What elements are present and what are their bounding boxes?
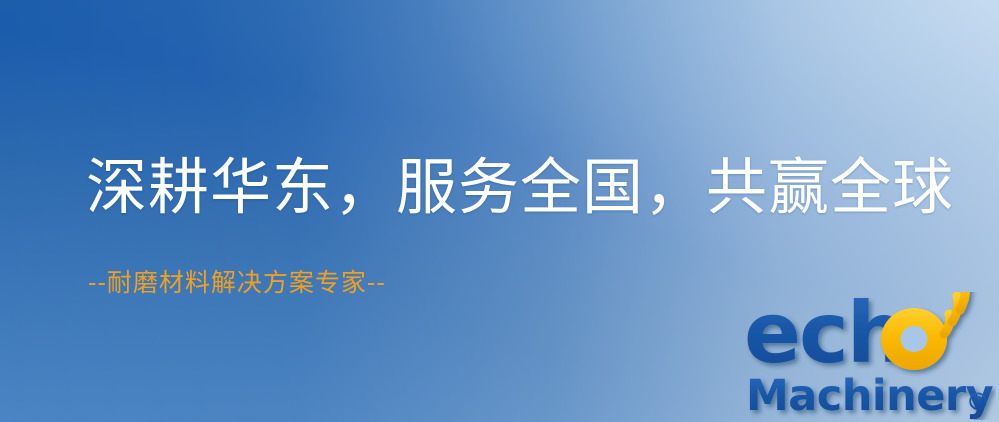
banner-subheadline: --耐磨材料解决方案专家--: [88, 266, 386, 300]
banner-headline: 深耕华东，服务全国，共赢全球: [86, 148, 954, 228]
logo-trademark-symbol: ®: [966, 388, 990, 416]
logo-text-machinery: Machinery: [746, 371, 994, 420]
logo-text-ech: ech: [744, 292, 905, 382]
logo-wordmark-echo: ech: [744, 292, 966, 382]
hero-banner: 深耕华东，服务全国，共赢全球 --耐磨材料解决方案专家--: [0, 0, 999, 422]
signal-waves-icon: [944, 292, 966, 334]
logo-svg: ech Machinery ®: [744, 292, 996, 420]
echo-machinery-logo[interactable]: ech Machinery ®: [744, 292, 996, 420]
logo-tagline-group: Machinery ®: [746, 371, 994, 420]
logo-letter-o-gold: [881, 308, 947, 370]
